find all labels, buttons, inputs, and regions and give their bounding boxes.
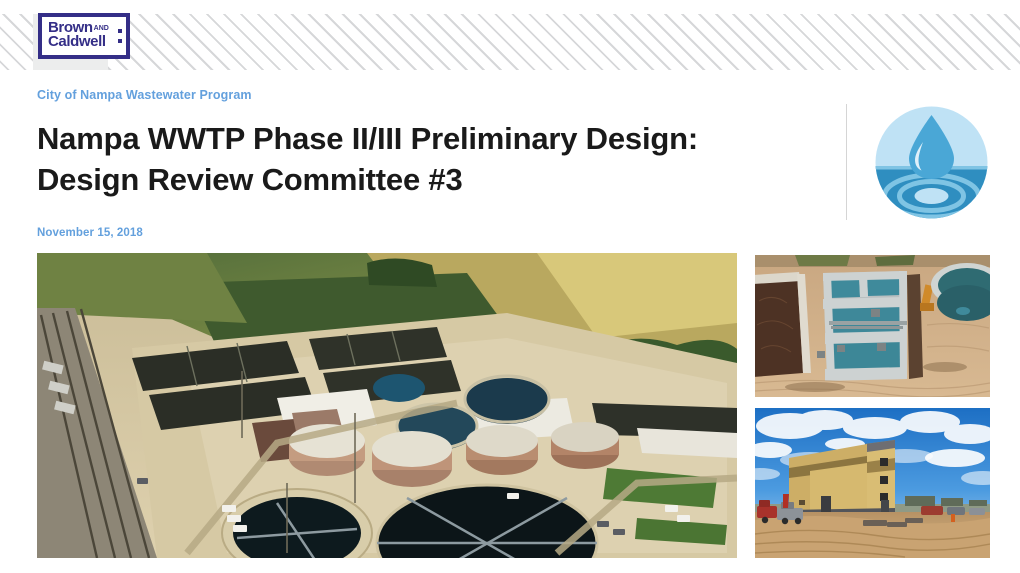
brown-and-caldwell-logo[interactable]: BrownAND Caldwell (38, 13, 130, 59)
header-stripe-band (0, 14, 1020, 70)
page-title: Nampa WWTP Phase II/III Preliminary Desi… (37, 118, 827, 200)
logo-wordmark: BrownAND Caldwell (48, 20, 109, 50)
program-eyebrow: City of Nampa Wastewater Program (37, 88, 252, 102)
title-logo-divider (846, 104, 847, 220)
logo-colon-dots-icon (118, 29, 123, 45)
new-building-construction-photo (755, 408, 990, 558)
logo-and: AND (94, 25, 109, 32)
page-title-line-1: Nampa WWTP Phase II/III Preliminary Desi… (37, 118, 827, 159)
presentation-date: November 15, 2018 (37, 227, 143, 239)
logo-line-caldwell: Caldwell (48, 34, 109, 49)
water-droplet-ripple-logo (873, 104, 990, 221)
aerial-basin-construction-photo (755, 255, 990, 397)
page-title-line-2: Design Review Committee #3 (37, 159, 827, 200)
aerial-wastewater-treatment-plant-photo (37, 253, 737, 558)
